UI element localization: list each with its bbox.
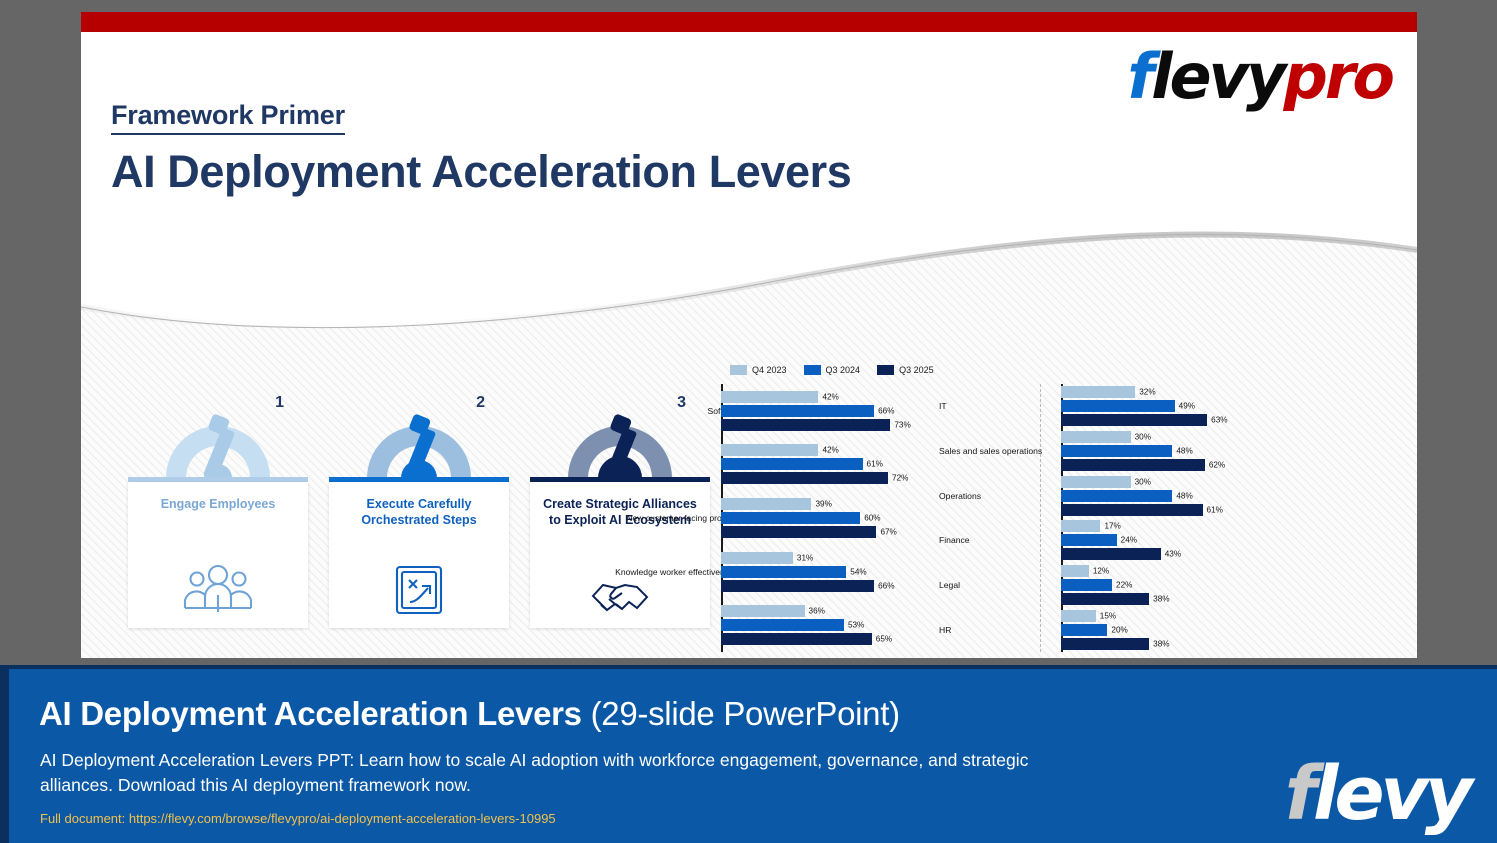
chart-category-row: Sales and sales operations30%48%62% [1061, 431, 1397, 471]
chart-bar [1061, 638, 1149, 650]
chart-bar [721, 580, 874, 592]
gauge-icon-3 [554, 410, 686, 485]
chart-bar-group: 48% [1061, 445, 1293, 457]
chart-bar-group: 72% [721, 472, 953, 484]
slide-canvas: Framework Primer AI Deployment Accelerat… [81, 12, 1417, 658]
chart-bar [1061, 610, 1096, 622]
chart-bar [1061, 476, 1131, 488]
chart-bar-value: 65% [872, 635, 892, 644]
chart-bar [721, 419, 890, 431]
chart-category-label: IT [939, 401, 1057, 411]
chart-bar-value: 48% [1172, 447, 1192, 456]
bar-chart-use-cases: Software development42%66%73%Customer se… [721, 384, 1031, 652]
chart-legend: Q4 2023 Q3 2024 Q3 2025 [730, 365, 934, 375]
chart-bar [1061, 579, 1112, 591]
chart-bar-value: 72% [888, 474, 908, 483]
chart-bar-group: 24% [1061, 534, 1293, 546]
legend-label-2: Q3 2025 [899, 365, 934, 375]
chart-bar-value: 38% [1149, 595, 1169, 604]
chart-category-label: Sales and sales operations [939, 446, 1057, 456]
chart-bar-group: 15% [1061, 610, 1293, 622]
chart-category-label: Operations [939, 490, 1057, 500]
chart-bar-group: 61% [721, 458, 953, 470]
chart-category-row: IT32%49%63% [1061, 386, 1397, 426]
card-body-3: Create Strategic Alliances to Exploit AI… [530, 482, 710, 628]
chart-bar [721, 472, 888, 484]
chart-category-label: Finance [939, 535, 1057, 545]
chart-bar-group: 43% [1061, 548, 1293, 560]
banner-title-light: (29-slide PowerPoint) [582, 695, 900, 732]
chart-bar-group: 54% [721, 566, 953, 578]
screenshot-root: Framework Primer AI Deployment Accelerat… [0, 0, 1497, 843]
chart-bar-value: 39% [811, 500, 831, 509]
chart-bar-value: 73% [890, 420, 910, 429]
chart-bar-value: 30% [1131, 433, 1151, 442]
chart-bar [721, 552, 793, 564]
banner-title-bold: AI Deployment Acceleration Levers [39, 695, 582, 732]
chart-bar-value: 61% [1203, 505, 1223, 514]
chart-bar-value: 42% [818, 392, 838, 401]
banner-title: AI Deployment Acceleration Levers (29-sl… [39, 695, 900, 733]
chart-bar-group: 62% [1061, 459, 1293, 471]
legend-swatch-0 [730, 365, 747, 375]
chart-bar [1061, 490, 1172, 502]
chart-divider [1040, 384, 1041, 652]
banner-url[interactable]: Full document: https://flevy.com/browse/… [40, 811, 556, 826]
chart-bar-group: 61% [1061, 504, 1293, 516]
chart-bar-value: 63% [1207, 416, 1227, 425]
chart-bar-group: 12% [1061, 565, 1293, 577]
chart-bar-group: 63% [1061, 414, 1293, 426]
chart-bar-value: 30% [1131, 477, 1151, 486]
chart-bar-value: 53% [844, 621, 864, 630]
chart-category-row: Operations30%48%61% [1061, 476, 1397, 516]
flevy-logo-levy: levy [1313, 751, 1469, 837]
chart-bar-value: 62% [1205, 461, 1225, 470]
chart-bar-group: 66% [721, 405, 953, 417]
chart-bar [1061, 386, 1135, 398]
chart-bar-group: 67% [721, 526, 953, 538]
chart-bar-value: 31% [793, 553, 813, 562]
chart-bar-group: 32% [1061, 386, 1293, 398]
chart-bar-group: 30% [1061, 431, 1293, 443]
card-label-1: Engage Employees [136, 496, 300, 512]
chart-bar-value: 36% [805, 607, 825, 616]
chart-bar [1061, 459, 1205, 471]
legend-item-0: Q4 2023 [730, 365, 787, 375]
chart-bar-value: 49% [1175, 402, 1195, 411]
chart-bar-group: 48% [1061, 490, 1293, 502]
growth-arrow-icon [394, 564, 444, 621]
chart-bar [721, 444, 818, 456]
chart-category-label: Legal [939, 580, 1057, 590]
chart-bar-value: 22% [1112, 581, 1132, 590]
chart-bar [1061, 445, 1172, 457]
chart-bar-value: 43% [1161, 550, 1181, 559]
chart-bar [721, 391, 818, 403]
chart-bar-value: 66% [874, 406, 894, 415]
flevy-logo: flevy [1285, 757, 1469, 831]
chart-bar-group: 73% [721, 419, 953, 431]
chart-bar-value: 42% [818, 446, 838, 455]
chart-bar-group: 22% [1061, 579, 1293, 591]
chart-bar-value: 60% [860, 514, 880, 523]
legend-item-1: Q3 2024 [804, 365, 861, 375]
card-body-1: Engage Employees [128, 482, 308, 628]
chart-bar-group: 66% [721, 580, 953, 592]
chart-bar [1061, 548, 1161, 560]
chart-bar-value: 61% [863, 460, 883, 469]
legend-item-2: Q3 2025 [877, 365, 934, 375]
flevy-logo-f: f [1285, 751, 1313, 837]
product-banner: AI Deployment Acceleration Levers (29-sl… [0, 665, 1497, 843]
chart-category-row: HR15%20%38% [1061, 610, 1397, 650]
chart-bar [721, 526, 876, 538]
chart-bar [721, 633, 872, 645]
chart-bar-group: 42% [721, 391, 953, 403]
chart-bar-group: 38% [1061, 638, 1293, 650]
chart-bar [1061, 520, 1100, 532]
chart-bar-value: 20% [1107, 625, 1127, 634]
chart-bar-value: 32% [1135, 388, 1155, 397]
chart-bar [1061, 565, 1089, 577]
chart-bar [1061, 431, 1131, 443]
chart-bar-group: 60% [721, 512, 953, 524]
chart-bar [721, 605, 805, 617]
chart-bar [721, 512, 860, 524]
chart-bar [721, 619, 844, 631]
chart-bar-value: 17% [1100, 522, 1120, 531]
people-group-icon [181, 564, 255, 617]
chart-bar-group: 53% [721, 619, 953, 631]
chart-bar [721, 458, 863, 470]
chart-bar [721, 498, 811, 510]
chart-bar-group: 20% [1061, 624, 1293, 636]
chart-bar-value: 54% [846, 567, 866, 576]
chart-bar-value: 12% [1089, 567, 1109, 576]
card-body-2: Execute Carefully Orchestrated Steps [329, 482, 509, 628]
chart-bar-value: 38% [1149, 639, 1169, 648]
chart-bar-group: 65% [721, 633, 953, 645]
chart-bar-group: 49% [1061, 400, 1293, 412]
legend-swatch-2 [877, 365, 894, 375]
gauge-icon-1 [152, 410, 284, 485]
chart-bar [1061, 593, 1149, 605]
legend-label-1: Q3 2024 [826, 365, 861, 375]
chart-bar-group: 17% [1061, 520, 1293, 532]
chart-bar-value: 66% [874, 581, 894, 590]
chart-bar [721, 566, 846, 578]
legend-label-0: Q4 2023 [752, 365, 787, 375]
chart-bar [1061, 414, 1207, 426]
chart-category-label: HR [939, 624, 1057, 634]
chart-bar [1061, 504, 1203, 516]
legend-swatch-1 [804, 365, 821, 375]
chart-bar [721, 405, 874, 417]
card-label-2: Execute Carefully Orchestrated Steps [337, 496, 501, 528]
chart-bar-group: 31% [721, 552, 953, 564]
gauge-icon-2 [353, 410, 485, 485]
chart-bar-value: 15% [1096, 611, 1116, 620]
chart-bar [1061, 534, 1117, 546]
chart-bar [1061, 400, 1175, 412]
chart-bar [1061, 624, 1107, 636]
chart-category-row: Legal12%22%38% [1061, 565, 1397, 605]
chart-bar-group: 30% [1061, 476, 1293, 488]
chart-bar-value: 24% [1117, 536, 1137, 545]
chart-bar-value: 67% [876, 528, 896, 537]
chart-bar-group: 36% [721, 605, 953, 617]
chart-bar-group: 38% [1061, 593, 1293, 605]
chart-bar-group: 39% [721, 498, 953, 510]
chart-category-row: New customer-facing products and service… [721, 498, 1031, 538]
chart-category-row: Finance17%24%43% [1061, 520, 1397, 560]
chart-bar-value: 48% [1172, 491, 1192, 500]
bar-chart-functions: IT32%49%63%Sales and sales operations30%… [1061, 384, 1397, 652]
banner-description: AI Deployment Acceleration Levers PPT: L… [40, 748, 1080, 798]
chart-bar-group: 42% [721, 444, 953, 456]
